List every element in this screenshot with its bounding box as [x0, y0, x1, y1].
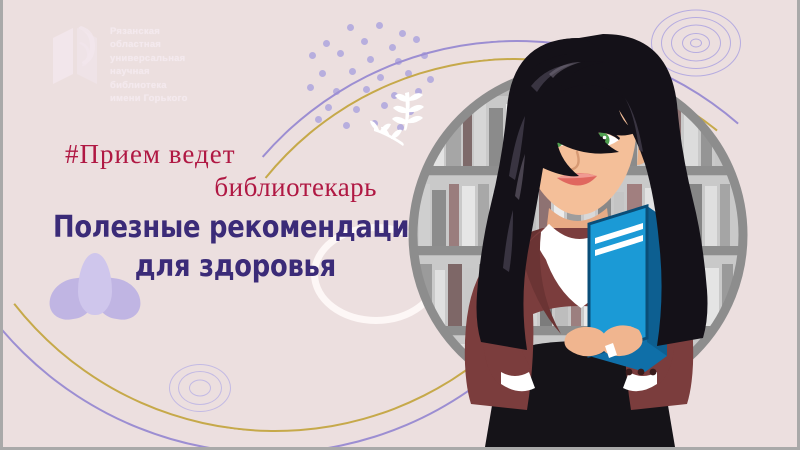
logo-line-6: имени Горького [110, 92, 188, 105]
page-title: Полезные рекомендации для здоровья [53, 208, 356, 286]
open-book-icon [51, 22, 101, 88]
logo-line-4: научная [110, 65, 188, 78]
headline-line-1: #Прием ведет [65, 138, 395, 171]
subheadline-line-1: Полезные рекомендации [53, 208, 356, 247]
jacket-buttons [626, 369, 657, 376]
subheadline-line-2: для здоровья [53, 247, 356, 286]
library-logo[interactable]: Рязанская областная универсальная научна… [51, 22, 188, 106]
headline-line-2: библиотекарь [65, 171, 395, 204]
logo-line-2: областная [110, 38, 188, 51]
library-logo-text: Рязанская областная универсальная научна… [110, 22, 188, 106]
logo-line-5: библиотека [110, 79, 188, 92]
librarian-illustration [353, 0, 800, 447]
poster-canvas: Рязанская областная универсальная научна… [0, 0, 800, 450]
logo-line-3: универсальная [110, 52, 188, 65]
logo-line-1: Рязанская [110, 25, 188, 38]
hashtag-headline: #Прием ведет библиотекарь [65, 138, 395, 204]
